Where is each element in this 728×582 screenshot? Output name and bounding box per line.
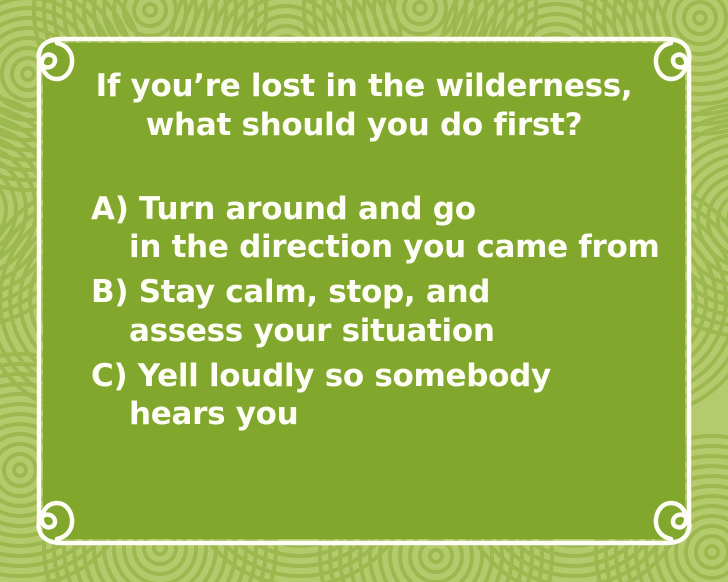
option-a-line-2: in the direction you came from: [91, 228, 673, 267]
quiz-card: If you’re lost in the wilderness, what s…: [0, 0, 728, 582]
option-a[interactable]: A) Turn around and go in the direction y…: [91, 190, 673, 268]
option-c[interactable]: C) Yell loudly so somebody hears you: [91, 357, 673, 435]
question-line-1: If you’re lost in the wilderness,: [77, 67, 651, 106]
option-c-line-2: hears you: [91, 395, 673, 434]
card-content: If you’re lost in the wilderness, what s…: [43, 43, 685, 539]
option-b-line-1: B) Stay calm, stop, and: [91, 273, 673, 312]
question-line-2: what should you do first?: [77, 106, 651, 145]
question-text: If you’re lost in the wilderness, what s…: [43, 43, 685, 146]
option-b-line-2: assess your situation: [91, 312, 673, 351]
options-list: A) Turn around and go in the direction y…: [43, 190, 685, 435]
option-b[interactable]: B) Stay calm, stop, and assess your situ…: [91, 273, 673, 351]
option-c-line-1: C) Yell loudly so somebody: [91, 357, 673, 396]
option-a-line-1: A) Turn around and go: [91, 190, 673, 229]
